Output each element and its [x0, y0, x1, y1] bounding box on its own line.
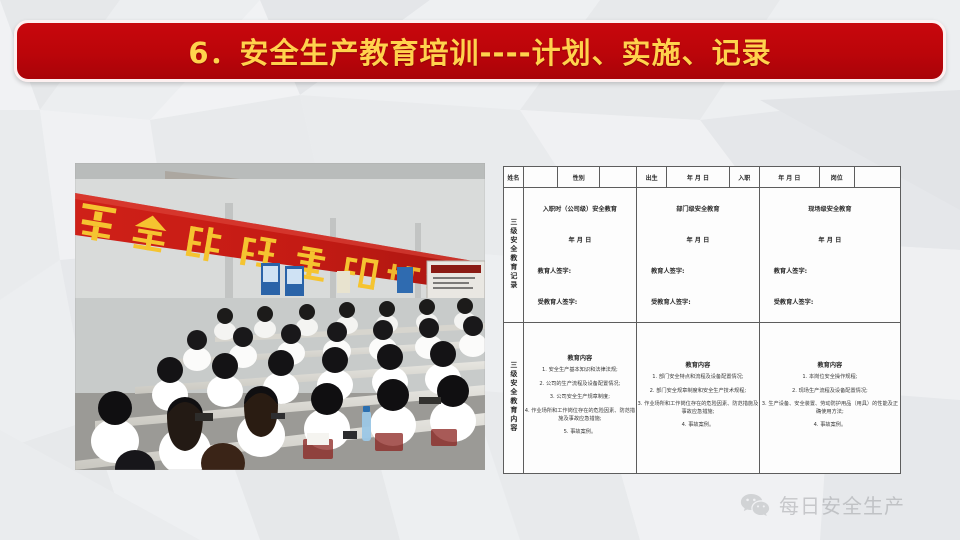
content-department-title: 教育内容 — [637, 360, 759, 369]
list-item: 1. 本岗位安全操作规程; — [760, 374, 900, 382]
record-company-title: 入职时（公司级）安全教育 — [524, 204, 636, 213]
list-item: 2. 公司的生产流程及设备配置情况; — [524, 381, 636, 389]
record-company-educator-signature[interactable]: 教育人签字: — [524, 266, 636, 275]
record-department-date[interactable]: 年 月 日 — [637, 235, 759, 244]
list-item: 3. 生产设备、安全装置、劳动防护用品（用具）的性能及正确使用方法; — [760, 401, 900, 416]
content-site-list: 1. 本岗位安全操作规程; 2. 现场生产流程及设备配置情况; 3. 生产设备、… — [760, 374, 900, 430]
header-post-label: 岗位 — [819, 167, 854, 188]
form-table: 姓名 性别 出生 年 月 日 入职 年 月 日 岗位 三级安全教育记录 — [503, 166, 901, 474]
header-gender-value[interactable] — [600, 167, 637, 188]
record-company-trainee-signature[interactable]: 受教育人签字: — [524, 297, 636, 306]
list-item: 5. 事故案例。 — [524, 429, 636, 437]
header-birth-date[interactable]: 年 月 日 — [667, 167, 730, 188]
content-column-company: 教育内容 1. 安全生产基本知识和法律法规; 2. 公司的生产流程及设备配置情况… — [523, 323, 636, 474]
record-site-educator-signature[interactable]: 教育人签字: — [760, 266, 900, 275]
three-level-safety-education-form: 姓名 性别 出生 年 月 日 入职 年 月 日 岗位 三级安全教育记录 — [503, 166, 901, 474]
record-section-label-text: 三级安全教育记录 — [510, 218, 517, 290]
record-department-trainee-signature[interactable]: 受教育人签字: — [637, 297, 759, 306]
list-item: 1. 安全生产基本知识和法律法规; — [524, 367, 636, 375]
header-name-label: 姓名 — [504, 167, 524, 188]
header-gender-label: 性别 — [558, 167, 600, 188]
content-column-site: 教育内容 1. 本岗位安全操作规程; 2. 现场生产流程及设备配置情况; 3. … — [759, 323, 900, 474]
table-row-content-section: 三级安全教育内容 教育内容 1. 安全生产基本知识和法律法规; 2. 公司的生产… — [504, 323, 901, 474]
safety-training-classroom-photo — [75, 163, 485, 470]
content-department-list: 1. 部门安全特点和流程及设备配置情况; 2. 部门安全规章制度和安全生产技术规… — [637, 374, 759, 430]
content-company-title: 教育内容 — [524, 353, 636, 362]
record-column-company: 入职时（公司级）安全教育 年 月 日 教育人签字: 受教育人签字: — [523, 188, 636, 323]
list-item: 3. 作业场所和工作岗位存在的危险因素、防范措施及事故应急措施; — [637, 401, 759, 416]
list-item: 1. 部门安全特点和流程及设备配置情况; — [637, 374, 759, 382]
record-section-row-label: 三级安全教育记录 — [504, 188, 524, 323]
header-birth-label: 出生 — [637, 167, 667, 188]
record-column-department: 部门级安全教育 年 月 日 教育人签字: 受教育人签字: — [637, 188, 760, 323]
record-column-site: 现场级安全教育 年 月 日 教育人签字: 受教育人签字: — [759, 188, 900, 323]
slide-canvas: 6．安全生产教育培训----计划、实施、记录 — [0, 0, 960, 540]
header-name-value[interactable] — [523, 167, 558, 188]
slide-title-banner: 6．安全生产教育培训----计划、实施、记录 — [14, 20, 946, 82]
list-item: 3. 公司安全生产规章制度; — [524, 394, 636, 402]
content-company-list: 1. 安全生产基本知识和法律法规; 2. 公司的生产流程及设备配置情况; 3. … — [524, 367, 636, 436]
header-hire-date[interactable]: 年 月 日 — [759, 167, 819, 188]
wechat-icon — [740, 492, 770, 518]
record-site-date[interactable]: 年 月 日 — [760, 235, 900, 244]
record-department-educator-signature[interactable]: 教育人签字: — [637, 266, 759, 275]
watermark-label: 每日安全生产 — [779, 490, 905, 519]
content-column-department: 教育内容 1. 部门安全特点和流程及设备配置情况; 2. 部门安全规章制度和安全… — [637, 323, 760, 474]
content-site-title: 教育内容 — [760, 360, 900, 369]
record-site-title: 现场级安全教育 — [760, 204, 900, 213]
table-row-header: 姓名 性别 出生 年 月 日 入职 年 月 日 岗位 — [504, 167, 901, 188]
content-section-row-label: 三级安全教育内容 — [504, 323, 524, 474]
record-department-title: 部门级安全教育 — [637, 204, 759, 213]
list-item: 2. 部门安全规章制度和安全生产技术规程; — [637, 388, 759, 396]
list-item: 4. 作业场所和工作岗位存在的危险因素、防范措施及事故应急措施; — [524, 408, 636, 423]
list-item: 4. 事故案例。 — [637, 422, 759, 430]
record-company-date[interactable]: 年 月 日 — [524, 235, 636, 244]
header-hire-label: 入职 — [729, 167, 759, 188]
content-section-label-text: 三级安全教育内容 — [510, 361, 517, 433]
table-row-record-section: 三级安全教育记录 入职时（公司级）安全教育 年 月 日 教育人签字: 受教育人签… — [504, 188, 901, 323]
list-item: 2. 现场生产流程及设备配置情况; — [760, 388, 900, 396]
page-title: 6．安全生产教育培训----计划、实施、记录 — [188, 30, 771, 72]
photo-illustration — [75, 163, 485, 470]
record-site-trainee-signature[interactable]: 受教育人签字: — [760, 297, 900, 306]
header-post-value[interactable] — [854, 167, 900, 188]
wechat-watermark: 每日安全生产 — [740, 490, 905, 519]
list-item: 4. 事故案例。 — [760, 422, 900, 430]
